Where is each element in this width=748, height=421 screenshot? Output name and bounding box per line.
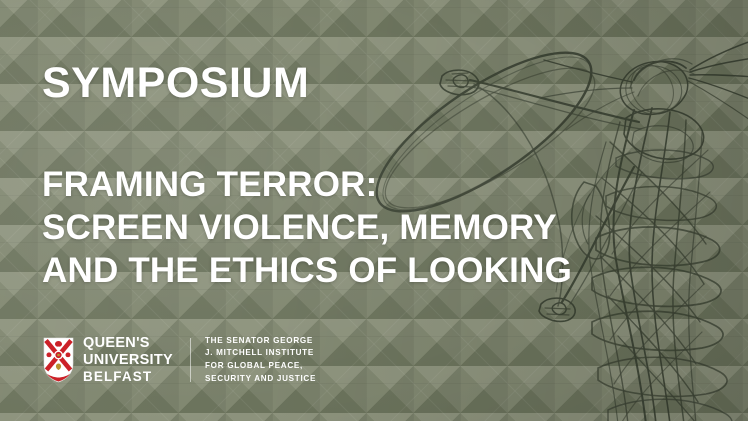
institute-line-4: SECURITY AND JUSTICE [205, 373, 316, 386]
symposium-title-slide: SYMPOSIUM FRAMING TERROR: SCREEN VIOLENC… [0, 0, 748, 421]
qub-line-1: QUEEN'S [83, 335, 173, 352]
event-type-label: SYMPOSIUM [42, 62, 309, 105]
page-title: FRAMING TERROR: SCREEN VIOLENCE, MEMORY … [42, 163, 572, 292]
institute-line-1: THE SENATOR GEORGE [205, 335, 316, 348]
mitchell-institute-wordmark: THE SENATOR GEORGE J. MITCHELL INSTITUTE… [205, 335, 316, 385]
qub-line-2: UNIVERSITY [83, 352, 173, 369]
institute-line-3: FOR GLOBAL PEACE, [205, 360, 316, 373]
title-line-1: FRAMING TERROR: [42, 163, 572, 206]
queens-university-crest-icon [43, 337, 74, 383]
institute-line-2: J. MITCHELL INSTITUTE [205, 347, 316, 360]
logo-divider [190, 338, 191, 382]
qub-line-3: BELFAST [83, 369, 173, 385]
title-line-2: SCREEN VIOLENCE, MEMORY [42, 206, 572, 249]
title-line-3: AND THE ETHICS OF LOOKING [42, 249, 572, 292]
logo-lockup: QUEEN'S UNIVERSITY BELFAST THE SENATOR G… [43, 334, 316, 386]
queens-university-wordmark: QUEEN'S UNIVERSITY BELFAST [83, 335, 173, 385]
